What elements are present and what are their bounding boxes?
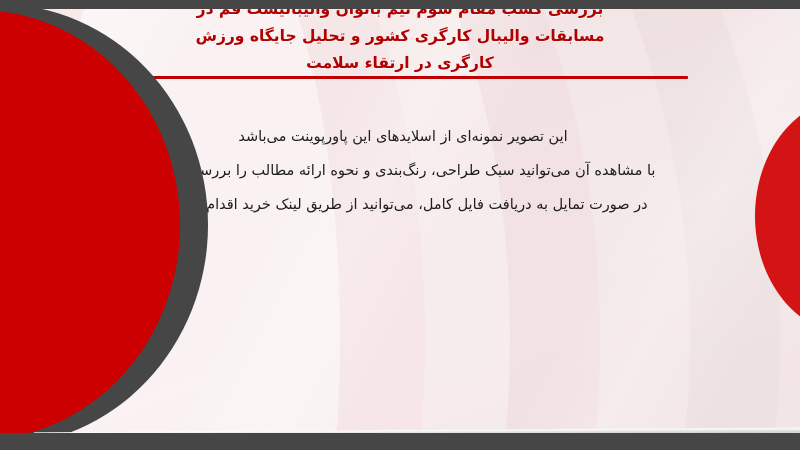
title-underline-rule: [133, 76, 688, 79]
top-gray-bar: [0, 0, 800, 9]
title-line-2: مسابقات والیبال کارگری کشور و تحلیل جایگ…: [22, 23, 778, 50]
bottom-gray-bar: [0, 433, 800, 450]
presentation-slide: بررسی کسب مقام سوم تیم بانوان والیبالیست…: [0, 0, 800, 450]
